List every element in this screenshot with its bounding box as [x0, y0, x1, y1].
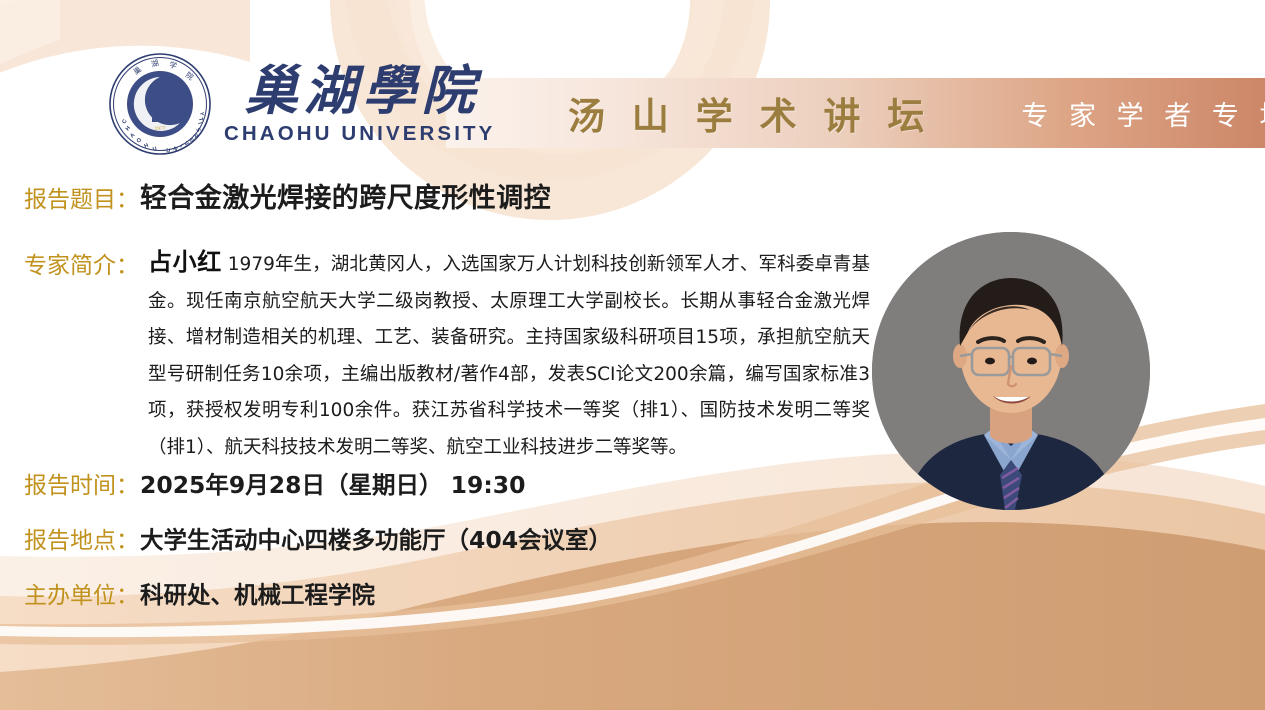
- report-host-row: 主办单位： 科研处、机械工程学院: [24, 576, 375, 610]
- report-title-value: 轻合金激光焊接的跨尺度形性调控: [140, 176, 551, 215]
- report-title-label: 报告题目：: [24, 180, 139, 214]
- report-place-row: 报告地点： 大学生活动中心四楼多功能厅（404会议室）: [24, 521, 612, 555]
- report-place-label: 报告地点：: [24, 521, 139, 555]
- report-place-value: 大学生活动中心四楼多功能厅（404会议室）: [140, 521, 612, 555]
- report-time-label: 报告时间：: [24, 466, 139, 500]
- report-title-row: 报告题目： 轻合金激光焊接的跨尺度形性调控: [24, 176, 551, 215]
- report-time-row: 报告时间： 2025年9月28日（星期日） 19:30: [24, 466, 525, 500]
- speaker-bio-row: 专家简介： 占小红 1979年生，湖北黄冈人，入选国家万人计划科技创新领军人才、…: [24, 244, 870, 466]
- speaker-bio-label: 专家简介：: [24, 246, 139, 280]
- report-host-value: 科研处、机械工程学院: [140, 576, 375, 610]
- speaker-portrait: [872, 232, 1150, 510]
- report-host-label: 主办单位：: [24, 576, 139, 610]
- speaker-name: 占小红: [148, 248, 222, 276]
- speaker-bio-text: 1979年生，湖北黄冈人，入选国家万人计划科技创新领军人才、军科委卓青基金。现任…: [148, 254, 870, 458]
- report-time-value: 2025年9月28日（星期日） 19:30: [140, 466, 525, 500]
- speaker-bio-body: 占小红 1979年生，湖北黄冈人，入选国家万人计划科技创新领军人才、军科委卓青基…: [148, 244, 870, 466]
- poster-canvas: 汤 山 学 术 讲 坛 专 家 学 者 专 场 1977 巢 湖 学 院: [0, 0, 1265, 710]
